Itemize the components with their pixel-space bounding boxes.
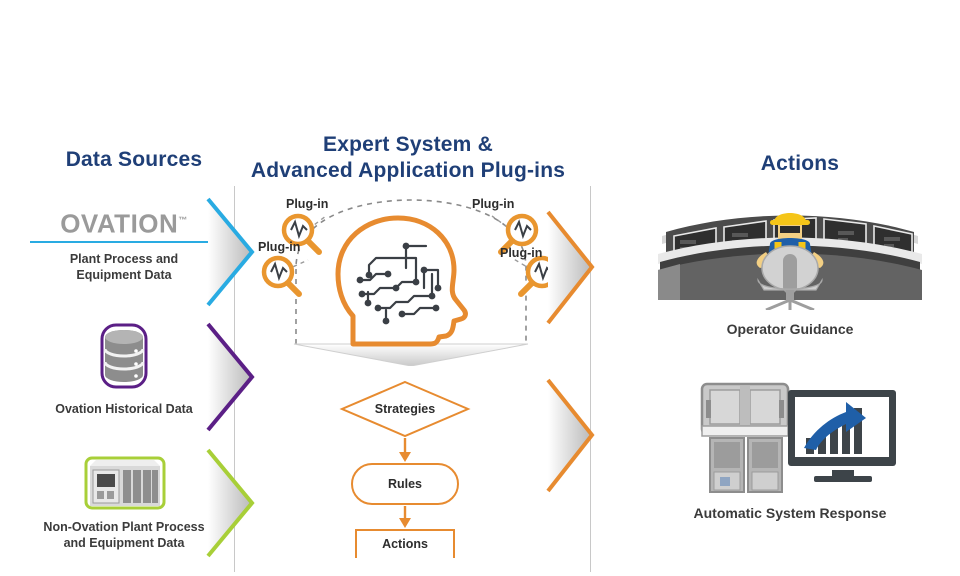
operator-console-icon bbox=[640, 192, 940, 310]
page-title-data-sources: Data Sources bbox=[28, 148, 240, 172]
ovation-underline bbox=[30, 241, 218, 243]
ovation-wordmark-text: OVATION bbox=[60, 209, 178, 239]
data-source-ovation: OVATION™ Plant Process and Equipment Dat… bbox=[24, 205, 224, 283]
page-title-expert-system-line1: Expert System & bbox=[248, 132, 568, 158]
page-title-expert-system-line2: Advanced Application Plug-ins bbox=[248, 158, 568, 184]
caption-line2: Equipment Data bbox=[24, 267, 224, 283]
ovation-wordmark-icon: OVATION™ bbox=[24, 205, 224, 239]
caption-line2: and Equipment Data bbox=[24, 535, 224, 551]
data-source-non-ovation: Non-Ovation Plant Process and Equipment … bbox=[24, 452, 224, 551]
flow-label-actions: Actions bbox=[320, 537, 490, 551]
chevron-automatic-response bbox=[546, 378, 608, 493]
magnifier-waveform-icon-2 bbox=[264, 258, 299, 294]
trademark-icon: ™ bbox=[178, 215, 188, 225]
action-operator-guidance: Operator Guidance bbox=[640, 192, 940, 337]
data-source-caption: Non-Ovation Plant Process and Equipment … bbox=[24, 519, 224, 551]
brain-plugins-svg bbox=[256, 196, 566, 366]
expert-system-brain-group bbox=[256, 196, 566, 366]
chevron-non-ovation bbox=[206, 448, 268, 558]
database-icon bbox=[24, 322, 224, 396]
plc-controller-icon bbox=[24, 452, 224, 514]
data-source-historical: Ovation Historical Data bbox=[24, 322, 224, 417]
strategy-flow-chart: Strategies Rules Actions bbox=[320, 378, 490, 558]
brain-circuit-head-icon bbox=[338, 218, 465, 344]
data-source-caption: Plant Process and Equipment Data bbox=[24, 251, 224, 283]
chevron-operator-guidance bbox=[546, 210, 608, 325]
action-caption-operator: Operator Guidance bbox=[640, 321, 940, 337]
action-caption-automatic: Automatic System Response bbox=[640, 505, 940, 521]
caption-line1: Plant Process and bbox=[24, 251, 224, 267]
caption-line1: Ovation Historical Data bbox=[24, 401, 224, 417]
action-automatic-response: Automatic System Response bbox=[640, 382, 940, 521]
plugin-label-1: Plug-in bbox=[286, 197, 328, 211]
plugin-label-3: Plug-in bbox=[472, 197, 514, 211]
controller-monitor-chart-icon bbox=[640, 382, 940, 494]
page-title-actions: Actions bbox=[660, 152, 940, 176]
data-source-caption: Ovation Historical Data bbox=[24, 401, 224, 417]
flow-label-rules: Rules bbox=[320, 477, 490, 491]
plugin-label-2: Plug-in bbox=[258, 240, 300, 254]
plugin-label-4: Plug-in bbox=[500, 246, 542, 260]
caption-line1: Non-Ovation Plant Process bbox=[24, 519, 224, 535]
flow-label-strategies: Strategies bbox=[320, 402, 490, 416]
page-title-expert-system: Expert System & Advanced Application Plu… bbox=[248, 132, 568, 184]
diagram-canvas: Data Sources Expert System & Advanced Ap… bbox=[0, 0, 960, 576]
